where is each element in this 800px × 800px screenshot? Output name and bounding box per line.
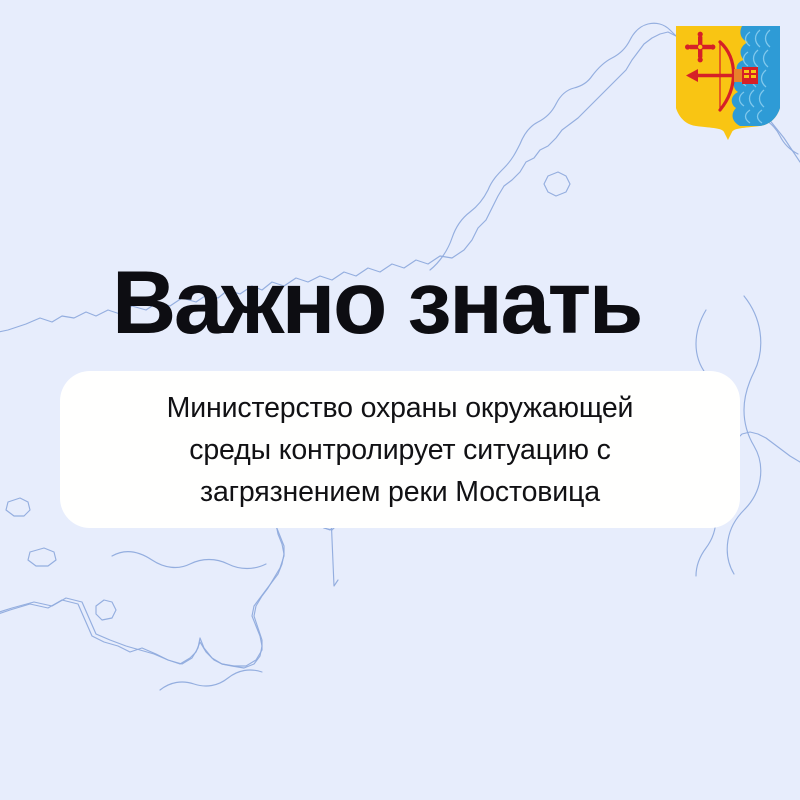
island-outline-2 bbox=[96, 600, 116, 620]
message-card: Министерство охраны окружающей среды кон… bbox=[60, 371, 740, 528]
banner-icon bbox=[742, 67, 758, 84]
caspian-outline bbox=[160, 670, 262, 690]
inner-coast-detail bbox=[112, 552, 266, 569]
coat-of-arms-kirov-oblast bbox=[672, 22, 784, 140]
island-outline-1 bbox=[544, 172, 570, 196]
poster-canvas: Важно знать Министерство охраны окружающ… bbox=[0, 0, 800, 800]
message-line-3: загрязнением реки Мостовица bbox=[200, 471, 600, 513]
island-outline-4 bbox=[28, 548, 56, 566]
page-title: Важно знать bbox=[112, 258, 641, 347]
message-line-2: среды контролирует ситуацию с bbox=[189, 429, 611, 471]
island-outline-3 bbox=[6, 498, 30, 516]
message-line-1: Министерство охраны окружающей bbox=[167, 387, 634, 429]
